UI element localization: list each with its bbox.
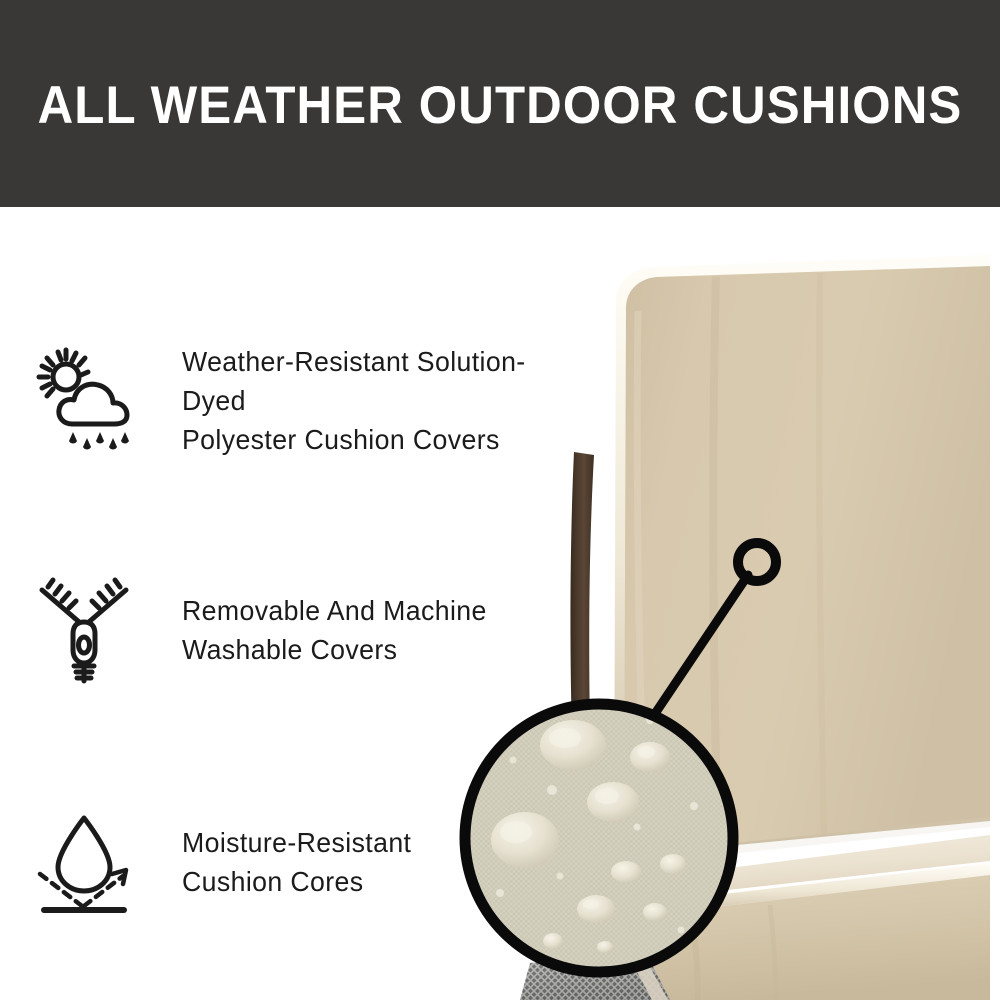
feature-label-moisture-resistant: Moisture-Resistant Cushion Cores [182,823,411,901]
droplet-shape [58,818,110,891]
zipper-icon [24,570,144,690]
header-banner: ALL WEATHER OUTDOOR CUSHIONS [0,0,1000,207]
back-cushion [624,266,990,852]
feature-label-removable-washable: Removable And Machine Washable Covers [182,591,487,669]
rain-drops [69,432,129,449]
page-title: ALL WEATHER OUTDOOR CUSHIONS [35,0,965,207]
product-infographic: ALL WEATHER OUTDOOR CUSHIONS [0,0,1000,1000]
feature-list: Weather-Resistant Solution-Dyed Polyeste… [0,207,600,1000]
feature-item-removable-washable: Removable And Machine Washable Covers [0,555,600,705]
water-droplet-repel-icon [24,802,144,922]
sun-cloud-rain-icon [24,340,144,460]
feature-item-moisture-resistant: Moisture-Resistant Cushion Cores [0,787,600,937]
feature-label-weather-resistant: Weather-Resistant Solution-Dyed Polyeste… [182,342,587,459]
feature-item-weather-resistant: Weather-Resistant Solution-Dyed Polyeste… [0,325,600,475]
